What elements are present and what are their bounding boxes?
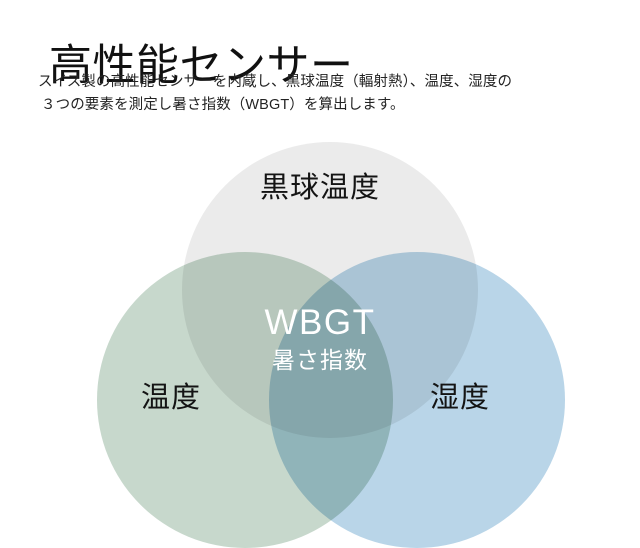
header-block: 高性能センサー スイス製の高性能センサーを内蔵し、黒球温度（輻射熱）、温度、湿度… — [0, 0, 640, 140]
venn-center-title: WBGT — [0, 304, 640, 343]
subtitle-line-1: スイス製の高性能センサーを内蔵し、黒球温度（輻射熱）、温度、湿度の — [38, 71, 618, 94]
venn-center-subtitle: 暑さ指数 — [0, 346, 640, 375]
subtitle-line-2: ３つの要素を測定し暑さ指数（WBGT）を算出します。 — [38, 94, 618, 117]
venn-label-temperature: 温度 — [141, 374, 201, 416]
page-subtitle: スイス製の高性能センサーを内蔵し、黒球温度（輻射熱）、温度、湿度の ３つの要素を… — [38, 71, 618, 118]
venn-circle-humidity — [269, 252, 565, 548]
venn-label-globe-temperature: 黒球温度 — [0, 164, 640, 206]
venn-diagram: 黒球温度 温度 湿度 WBGT 暑さ指数 — [0, 126, 640, 480]
venn-center-group: WBGT 暑さ指数 — [0, 304, 640, 374]
venn-label-humidity: 湿度 — [430, 374, 490, 416]
